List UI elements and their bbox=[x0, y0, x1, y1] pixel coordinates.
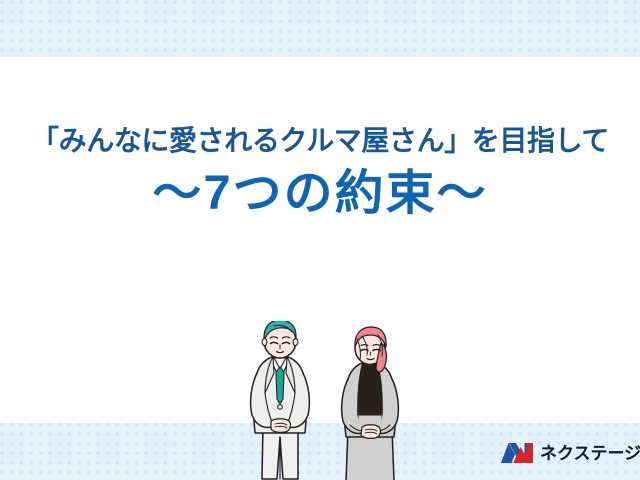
headline-line-secondary: 〜7つの約束〜 bbox=[0, 169, 640, 219]
content-panel: 「みんなに愛されるクルマ屋さん」を目指して 〜7つの約束〜 bbox=[0, 57, 640, 423]
male-staff-figure bbox=[251, 321, 310, 479]
nextage-brand-logo: ネクステージ bbox=[500, 438, 640, 468]
nextage-wordmark: ネクステージ bbox=[540, 445, 640, 462]
two-bowing-staff-illustration bbox=[233, 321, 423, 480]
headline-line-primary: 「みんなに愛されるクルマ屋さん」を目指して bbox=[0, 125, 640, 157]
nextage-n-logo-icon bbox=[500, 441, 534, 465]
slide-canvas: 「みんなに愛されるクルマ屋さん」を目指して 〜7つの約束〜 bbox=[0, 0, 640, 480]
headline-block: 「みんなに愛されるクルマ屋さん」を目指して 〜7つの約束〜 bbox=[0, 57, 640, 220]
female-staff-figure bbox=[342, 327, 399, 480]
